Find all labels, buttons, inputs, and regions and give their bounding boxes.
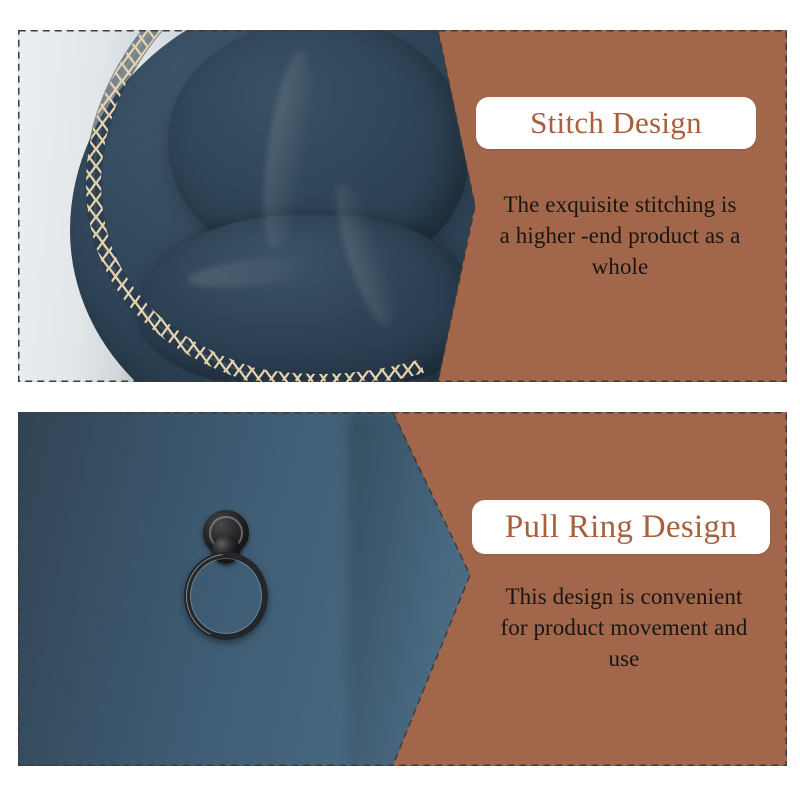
- ring-loop: [184, 552, 268, 640]
- panel-body-text-pull-ring-design: This design is convenient for product mo…: [478, 582, 770, 674]
- panel-title-badge-stitch-design: Stitch Design: [476, 97, 756, 149]
- body-line: whole: [478, 252, 762, 283]
- panel-title-badge-pull-ring-design: Pull Ring Design: [472, 500, 770, 554]
- panel-body-text-stitch-design: The exquisite stitching is a higher -end…: [478, 190, 762, 282]
- panel-title-text: Stitch Design: [530, 105, 702, 141]
- body-line: The exquisite stitching is: [478, 190, 762, 221]
- feature-panel-pull-ring-design: Pull Ring Design This design is convenie…: [18, 412, 787, 766]
- pull-ring-assembly: [170, 510, 280, 640]
- body-line: a higher -end product as a: [478, 221, 762, 252]
- body-line: This design is convenient: [478, 582, 770, 613]
- cushion-lower: [138, 215, 478, 382]
- body-line: for product movement and: [478, 613, 770, 644]
- feature-panel-stitch-design: Stitch Design The exquisite stitching is…: [18, 30, 787, 382]
- feature-image-page: Stitch Design The exquisite stitching is…: [0, 0, 800, 800]
- body-line: use: [478, 644, 770, 675]
- panel-title-text: Pull Ring Design: [505, 509, 737, 546]
